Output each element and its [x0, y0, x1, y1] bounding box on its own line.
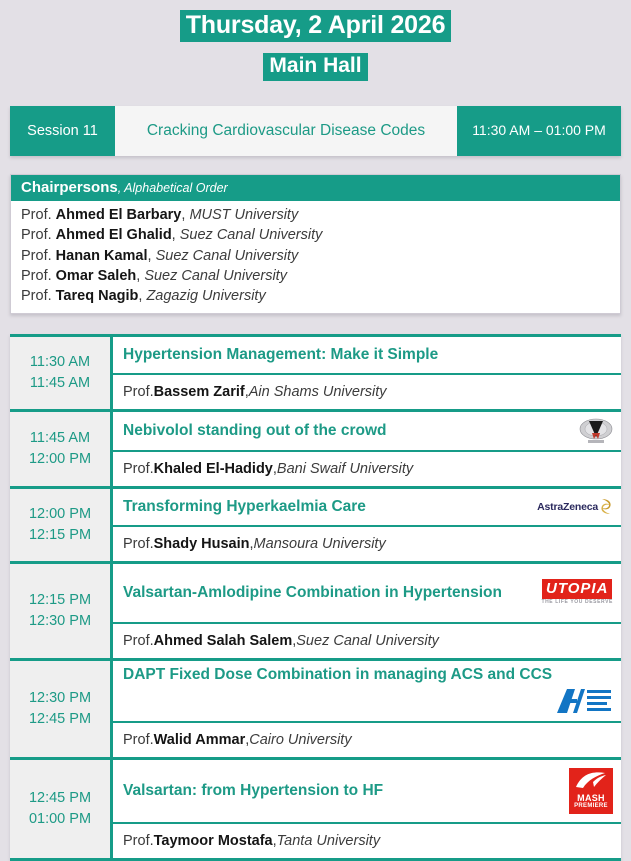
speaker-name: Ahmed Salah Salem	[154, 633, 293, 649]
slot-speaker-cell: Prof. Walid Ammar, Cairo University	[113, 723, 621, 757]
slot-start-time: 11:45 AM	[30, 428, 90, 449]
sponsor-logo-slot	[579, 417, 613, 445]
slot-body: DAPT Fixed Dose Combination in managing …	[113, 661, 621, 757]
slot-topic-text: Hypertension Management: Make it Simple	[123, 346, 613, 364]
speaker-prefix: Prof.	[123, 633, 154, 649]
header-date-line: Thursday, 2 April 2026	[0, 10, 631, 42]
slot-body: Transforming Hyperkaelmia Care AstraZene…	[113, 489, 621, 561]
slot-speaker-cell: Prof. Bassem Zarif, Ain Shams University	[113, 375, 621, 409]
hall-name: Main Hall	[263, 53, 367, 81]
speaker-affiliation: Bani Swaif University	[277, 461, 413, 477]
astrazeneca-wordmark: AstraZeneca	[537, 501, 598, 513]
table-row: 11:30 AM 11:45 AM Hypertension Managemen…	[10, 337, 621, 412]
chairperson-affiliation: Zagazig University	[146, 288, 265, 304]
slot-speaker-cell: Prof. Taymoor Mostafa, Tanta University	[113, 824, 621, 858]
chairperson-name: Omar Saleh	[56, 268, 137, 284]
chairperson-separator: ,	[172, 227, 180, 243]
speaker-name: Khaled El-Hadidy	[154, 461, 273, 477]
mash-premiere-logo: MASH PREMIERE	[569, 768, 613, 814]
nebivolol-emblem-logo	[579, 417, 613, 445]
slot-speaker-cell: Prof. Shady Husain, Mansoura University	[113, 527, 621, 561]
speaker-prefix: Prof.	[123, 536, 154, 552]
utopia-tagline: THE LIFE YOU DESERVE	[541, 598, 613, 605]
speaker-affiliation: Tanta University	[277, 833, 380, 849]
chairperson-name: Hanan Kamal	[56, 248, 148, 264]
chairpersons-heading: Chairpersons	[21, 179, 118, 196]
conference-date: Thursday, 2 April 2026	[180, 10, 452, 42]
chairperson-separator: ,	[148, 248, 156, 264]
chairpersons-panel: Chairpersons, Alphabetical Order Prof. A…	[10, 174, 621, 314]
slot-time-cell: 12:00 PM 12:15 PM	[10, 489, 113, 561]
speaker-prefix: Prof.	[123, 833, 154, 849]
chairpersons-header: Chairpersons, Alphabetical Order	[11, 175, 620, 202]
slot-speaker-cell: Prof. Khaled El-Hadidy, Bani Swaif Unive…	[113, 452, 621, 486]
chairperson-prefix: Prof.	[21, 268, 56, 284]
speaker-name: Walid Ammar	[154, 732, 246, 748]
slot-end-time: 12:45 PM	[29, 709, 91, 730]
slot-topic-cell: Nebivolol standing out of the crowd	[113, 412, 621, 452]
slot-body: Valsartan-Amlodipine Combination in Hype…	[113, 564, 621, 658]
speaker-affiliation: Cairo University	[249, 732, 351, 748]
amoun-logo	[555, 686, 613, 716]
speaker-affiliation: Ain Shams University	[249, 384, 387, 400]
speaker-name: Shady Husain	[154, 536, 250, 552]
slot-body: Valsartan: from Hypertension to HF MASH …	[113, 760, 621, 858]
slot-time-cell: 11:45 AM 12:00 PM	[10, 412, 113, 486]
utopia-logo: UTOPIA THE LIFE YOU DESERVE	[531, 580, 613, 605]
header-hall-line: Main Hall	[0, 53, 631, 81]
speaker-name: Bassem Zarif	[154, 384, 245, 400]
slot-start-time: 12:00 PM	[29, 504, 91, 525]
slot-end-time: 12:00 PM	[29, 449, 91, 470]
chairpersons-heading-note: , Alphabetical Order	[118, 181, 228, 195]
chairperson-name: Tareq Nagib	[56, 288, 139, 304]
slot-time-cell: 12:15 PM 12:30 PM	[10, 564, 113, 658]
slot-end-time: 11:45 AM	[30, 373, 90, 394]
slot-body: Hypertension Management: Make it Simple …	[113, 337, 621, 409]
slot-topic-text: Valsartan: from Hypertension to HF	[123, 782, 563, 800]
slot-end-time: 01:00 PM	[29, 809, 91, 830]
mash-tagline: PREMIERE	[569, 803, 613, 810]
chairpersons-list: Prof. Ahmed El Barbary, MUST University …	[11, 201, 620, 312]
chairperson-prefix: Prof.	[21, 207, 56, 223]
slot-start-time: 12:45 PM	[29, 788, 91, 809]
speaker-affiliation: Suez Canal University	[296, 633, 439, 649]
slot-topic-cell: Valsartan-Amlodipine Combination in Hype…	[113, 564, 621, 624]
slot-time-cell: 11:30 AM 11:45 AM	[10, 337, 113, 409]
chairperson-prefix: Prof.	[21, 288, 56, 304]
chairperson-name: Ahmed El Ghalid	[56, 227, 172, 243]
table-row: 11:45 AM 12:00 PM Nebivolol standing out…	[10, 412, 621, 489]
slot-topic-text: Transforming Hyperkaelmia Care	[123, 498, 521, 516]
list-item: Prof. Ahmed El Barbary, MUST University	[21, 205, 610, 225]
schedule-table: 11:30 AM 11:45 AM Hypertension Managemen…	[10, 334, 621, 861]
slot-topic-cell: Valsartan: from Hypertension to HF MASH …	[113, 760, 621, 824]
slot-start-time: 12:30 PM	[29, 688, 91, 709]
slot-end-time: 12:15 PM	[29, 525, 91, 546]
slot-topic-text: Valsartan-Amlodipine Combination in Hype…	[123, 584, 525, 602]
table-row: 12:45 PM 01:00 PM Valsartan: from Hypert…	[10, 760, 621, 861]
astrazeneca-logo: AstraZeneca	[527, 498, 613, 516]
mash-wordmark: MASH	[569, 794, 613, 803]
sponsor-logo-slot	[555, 686, 613, 716]
session-title: Cracking Cardiovascular Disease Codes	[115, 106, 457, 156]
speaker-affiliation: Mansoura University	[254, 536, 386, 552]
chairperson-affiliation: Suez Canal University	[180, 227, 323, 243]
chairperson-prefix: Prof.	[21, 227, 56, 243]
session-time-range: 11:30 AM – 01:00 PM	[457, 106, 621, 156]
list-item: Prof. Hanan Kamal, Suez Canal University	[21, 246, 610, 266]
speaker-prefix: Prof.	[123, 384, 154, 400]
slot-topic-text: DAPT Fixed Dose Combination in managing …	[123, 666, 552, 684]
slot-topic-cell: DAPT Fixed Dose Combination in managing …	[113, 661, 621, 723]
chairperson-name: Ahmed El Barbary	[56, 207, 182, 223]
utopia-wordmark: UTOPIA	[542, 579, 612, 599]
slot-body: Nebivolol standing out of the crowd Prof…	[113, 412, 621, 486]
slot-topic-cell: Hypertension Management: Make it Simple	[113, 337, 621, 375]
slot-topic-text: Nebivolol standing out of the crowd	[123, 422, 573, 440]
list-item: Prof. Tareq Nagib, Zagazig University	[21, 286, 610, 306]
list-item: Prof. Omar Saleh, Suez Canal University	[21, 266, 610, 286]
speaker-name: Taymoor Mostafa	[154, 833, 273, 849]
slot-topic-cell: Transforming Hyperkaelmia Care AstraZene…	[113, 489, 621, 527]
slot-start-time: 12:15 PM	[29, 590, 91, 611]
chairperson-affiliation: Suez Canal University	[156, 248, 299, 264]
slot-start-time: 11:30 AM	[30, 352, 90, 373]
table-row: 12:15 PM 12:30 PM Valsartan-Amlodipine C…	[10, 564, 621, 661]
slot-end-time: 12:30 PM	[29, 611, 91, 632]
table-row: 12:00 PM 12:15 PM Transforming Hyperkael…	[10, 489, 621, 564]
chairperson-affiliation: Suez Canal University	[144, 268, 287, 284]
speaker-prefix: Prof.	[123, 461, 154, 477]
page-header: Thursday, 2 April 2026 Main Hall	[0, 0, 631, 81]
mash-swoosh-icon	[574, 771, 608, 789]
speaker-prefix: Prof.	[123, 732, 154, 748]
chairperson-prefix: Prof.	[21, 248, 56, 264]
slot-speaker-cell: Prof. Ahmed Salah Salem, Suez Canal Univ…	[113, 624, 621, 658]
astrazeneca-swirl-icon	[599, 498, 613, 515]
table-row: 12:30 PM 12:45 PM DAPT Fixed Dose Combin…	[10, 661, 621, 760]
chairperson-affiliation: MUST University	[189, 207, 298, 223]
slot-time-cell: 12:30 PM 12:45 PM	[10, 661, 113, 757]
session-number: Session 11	[10, 106, 115, 156]
slot-time-cell: 12:45 PM 01:00 PM	[10, 760, 113, 858]
session-bar: Session 11 Cracking Cardiovascular Disea…	[10, 106, 621, 156]
list-item: Prof. Ahmed El Ghalid, Suez Canal Univer…	[21, 225, 610, 245]
